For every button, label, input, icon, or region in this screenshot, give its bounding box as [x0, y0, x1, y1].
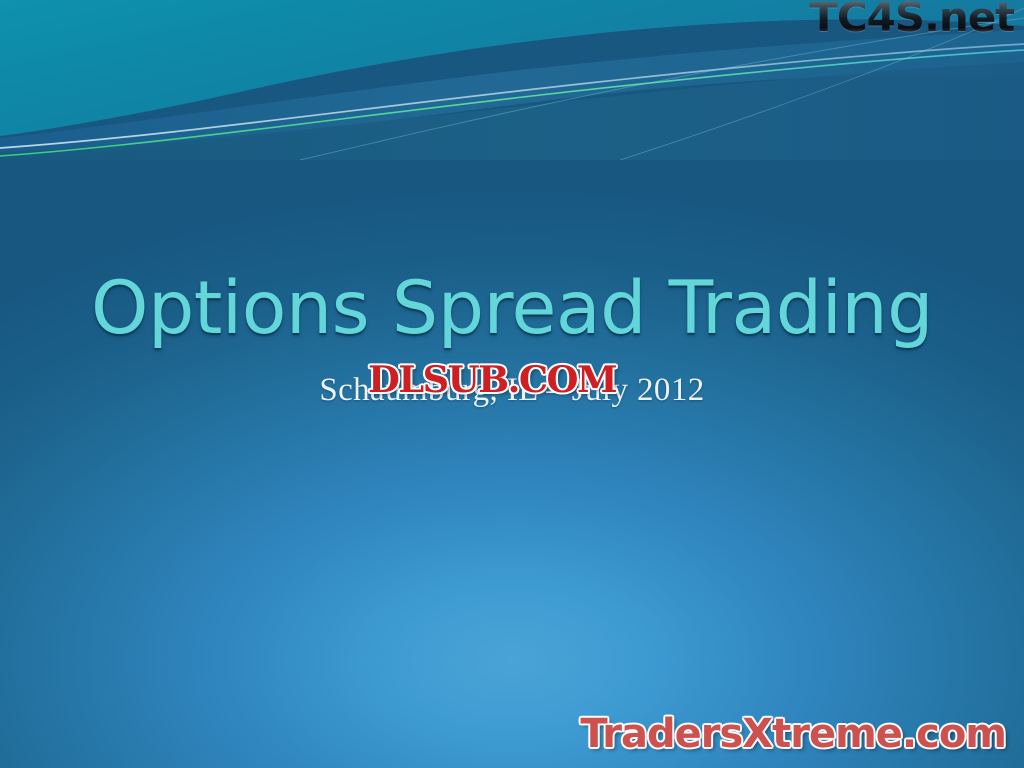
watermark-tc4s: TC4S.net: [809, 0, 1014, 38]
slide-title-text: Options Spread Trading: [91, 272, 933, 346]
slide-title: Options Spread Trading: [0, 272, 1024, 346]
watermark-dlsub: DLSUB.COM: [368, 362, 616, 398]
watermark-tradersxtreme: TradersXtreme.com: [580, 714, 1006, 754]
presentation-slide: Options Spread Trading Schaumburg, IL – …: [0, 0, 1024, 768]
